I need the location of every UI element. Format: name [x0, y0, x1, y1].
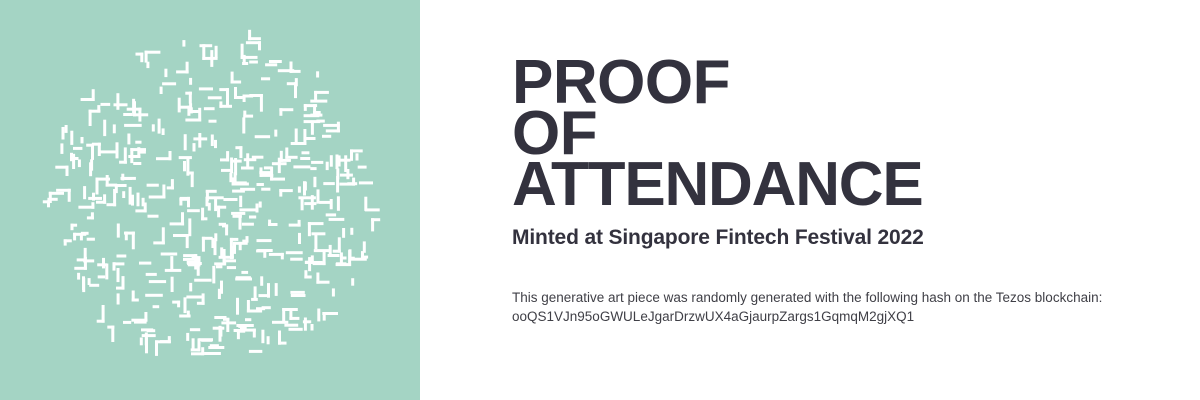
page-title: PROOF OF ATTENDANCE — [512, 57, 923, 210]
title-line-3: ATTENDANCE — [512, 159, 923, 210]
subtitle: Minted at Singapore Fintech Festival 202… — [512, 226, 924, 250]
hash-value: ooQS1VJn95oGWULeJgarDrzwUX4aGjaurpZargs1… — [512, 307, 1132, 326]
description-block: This generative art piece was randomly g… — [512, 288, 1132, 326]
generative-art-canvas — [0, 0, 420, 400]
proof-of-attendance-card: PROOF OF ATTENDANCE Minted at Singapore … — [0, 0, 1200, 400]
text-panel: PROOF OF ATTENDANCE Minted at Singapore … — [420, 0, 1200, 400]
generative-art-panel — [0, 0, 420, 400]
description-line: This generative art piece was randomly g… — [512, 288, 1132, 307]
